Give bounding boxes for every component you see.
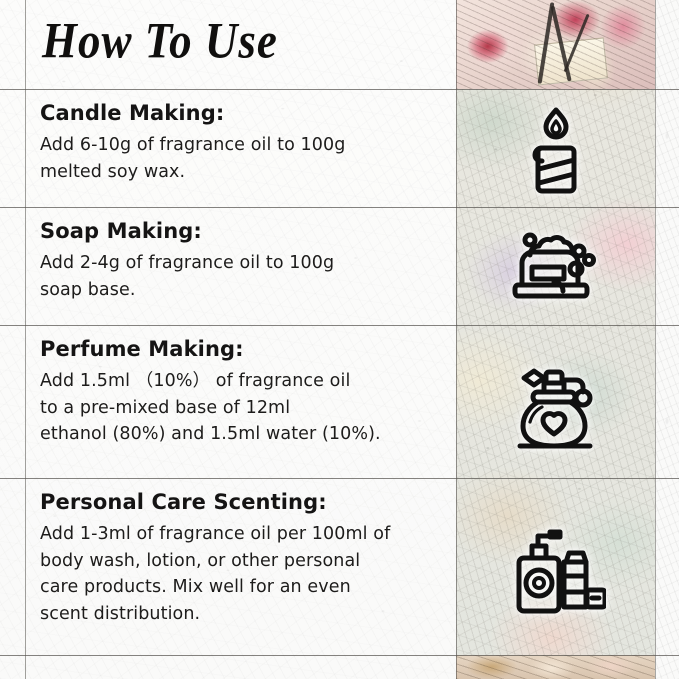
bottom-photo-floral [456, 655, 655, 679]
divider-rule [0, 655, 679, 656]
photo-line-texture [456, 0, 655, 89]
body-line: body wash, lotion, or other personal [40, 548, 448, 575]
section-body: Add 1-3ml of fragrance oil per 100ml of … [40, 521, 448, 627]
body-line: melted soy wax. [40, 159, 448, 186]
body-line: to a pre-mixed base of 12ml [40, 395, 448, 422]
icon-slot-candle [456, 95, 655, 207]
divider-rule [0, 207, 679, 208]
lotion-bottle-icon [506, 524, 606, 616]
perfume-bottle-icon [508, 358, 604, 452]
section-heading: Candle Making: [40, 101, 448, 125]
body-line: care products. Mix well for an even [40, 574, 448, 601]
candle-icon [517, 105, 595, 197]
edge-strip-rule [655, 0, 656, 679]
icon-slot-personal-care [456, 484, 655, 655]
body-line: scent distribution. [40, 601, 448, 628]
section-soap-making: Soap Making: Add 2-4g of fragrance oil t… [40, 219, 448, 303]
section-body: Add 1.5ml （10%） of fragrance oil to a pr… [40, 368, 448, 448]
body-line: ethanol (80%) and 1.5ml water (10%). [40, 421, 448, 448]
section-heading: Perfume Making: [40, 337, 448, 361]
body-line: Add 6-10g of fragrance oil to 100g [40, 132, 448, 159]
divider-rule [0, 325, 679, 326]
section-body: Add 6-10g of fragrance oil to 100g melte… [40, 132, 448, 185]
body-line: Add 2-4g of fragrance oil to 100g [40, 250, 448, 277]
section-heading: Soap Making: [40, 219, 448, 243]
top-photo-roses [456, 0, 655, 89]
body-line: Add 1.5ml （10%） of fragrance oil [40, 368, 448, 395]
soap-bar-icon [510, 227, 602, 311]
divider-rule [0, 89, 679, 90]
section-personal-care-scenting: Personal Care Scenting: Add 1-3ml of fra… [40, 490, 448, 627]
photo-line-texture [456, 655, 655, 679]
icon-slot-perfume [456, 331, 655, 478]
page-title: How To Use [42, 16, 278, 66]
section-heading: Personal Care Scenting: [40, 490, 448, 514]
left-margin-rule [25, 0, 26, 679]
body-line: Add 1-3ml of fragrance oil per 100ml of [40, 521, 448, 548]
section-body: Add 2-4g of fragrance oil to 100g soap b… [40, 250, 448, 303]
right-edge-strip [655, 0, 679, 679]
how-to-use-infographic: How To Use Candle Making: Add 6-10g of f… [0, 0, 679, 679]
section-candle-making: Candle Making: Add 6-10g of fragrance oi… [40, 101, 448, 185]
body-line: soap base. [40, 277, 448, 304]
section-perfume-making: Perfume Making: Add 1.5ml （10%） of fragr… [40, 337, 448, 448]
icon-slot-soap [456, 213, 655, 325]
divider-rule [0, 478, 679, 479]
